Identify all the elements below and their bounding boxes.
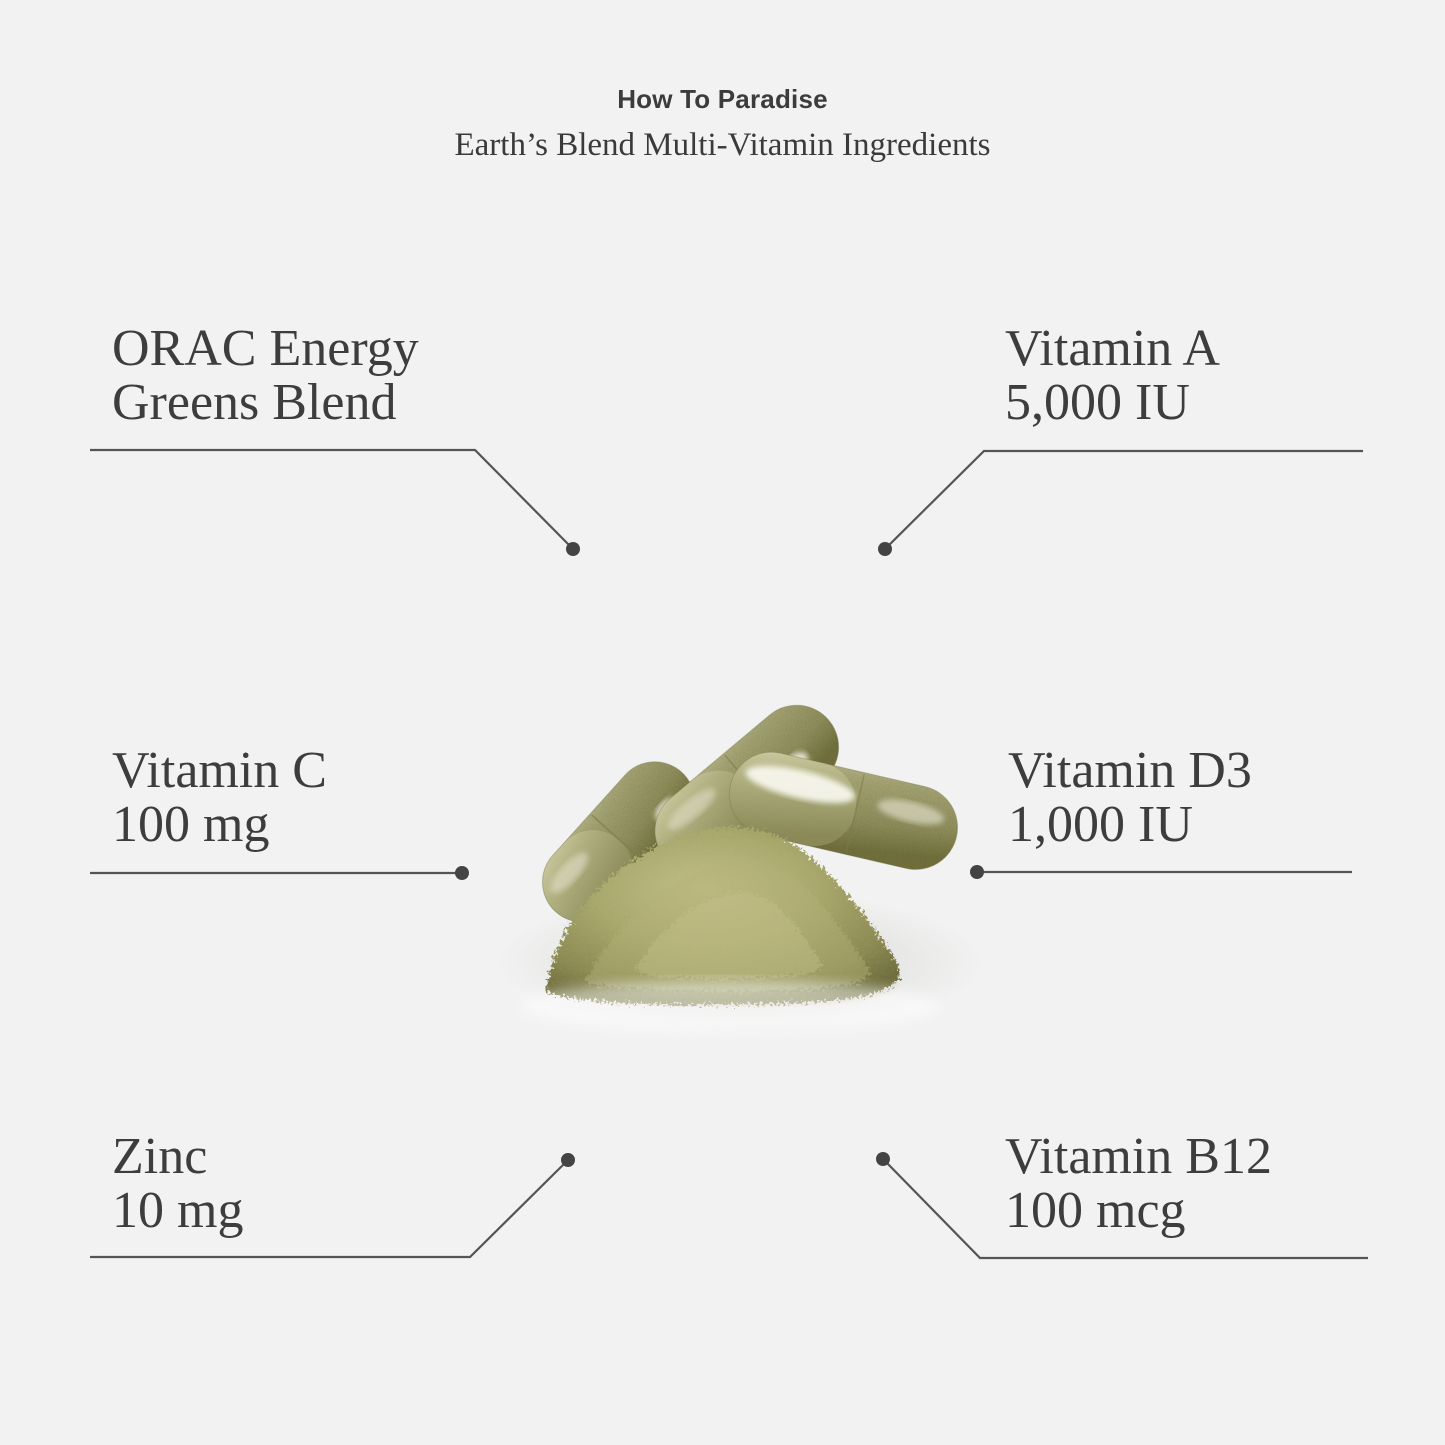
- leader-dot-zinc: [561, 1153, 575, 1167]
- callout-zinc-line2: 10 mg: [112, 1184, 243, 1238]
- photo-surface-sheen: [520, 980, 940, 1032]
- product-photo: [440, 590, 1020, 1060]
- callout-vitamin-a: Vitamin A 5,000 IU: [1005, 322, 1220, 429]
- leader-dot-orac: [566, 542, 580, 556]
- callout-vitamin-b12: Vitamin B12 100 mcg: [1005, 1130, 1272, 1237]
- callout-vitamin-c: Vitamin C 100 mg: [112, 744, 327, 851]
- callout-vitamin-c-line2: 100 mg: [112, 798, 327, 852]
- callout-vitamin-c-line1: Vitamin C: [112, 744, 327, 798]
- leader-line-orac: [90, 450, 571, 547]
- page-title: Earth’s Blend Multi-Vitamin Ingredients: [0, 123, 1445, 168]
- callout-zinc-line1: Zinc: [112, 1130, 243, 1184]
- callout-vitamin-b12-line1: Vitamin B12: [1005, 1130, 1272, 1184]
- callout-zinc: Zinc 10 mg: [112, 1130, 243, 1237]
- callout-vitamin-a-line2: 5,000 IU: [1005, 376, 1220, 430]
- header: How To Paradise Earth’s Blend Multi-Vita…: [0, 84, 1445, 168]
- callout-vitamin-a-line1: Vitamin A: [1005, 322, 1220, 376]
- callout-vitamin-d3-line2: 1,000 IU: [1008, 798, 1252, 852]
- callout-vitamin-b12-line2: 100 mcg: [1005, 1184, 1272, 1238]
- callout-orac-energy-greens-blend: ORAC Energy Greens Blend: [112, 322, 419, 429]
- infographic-page: How To Paradise Earth’s Blend Multi-Vita…: [0, 0, 1445, 1445]
- callout-vitamin-d3-line1: Vitamin D3: [1008, 744, 1252, 798]
- leader-dot-vitamin-b12: [876, 1152, 890, 1166]
- callout-orac-line2: Greens Blend: [112, 376, 419, 430]
- callout-orac-line1: ORAC Energy: [112, 322, 419, 376]
- leader-line-vitamin-a: [887, 451, 1363, 547]
- leader-dot-vitamin-a: [878, 542, 892, 556]
- brand-name: How To Paradise: [0, 84, 1445, 115]
- product-photo-svg: [440, 590, 1020, 1060]
- callout-vitamin-d3: Vitamin D3 1,000 IU: [1008, 744, 1252, 851]
